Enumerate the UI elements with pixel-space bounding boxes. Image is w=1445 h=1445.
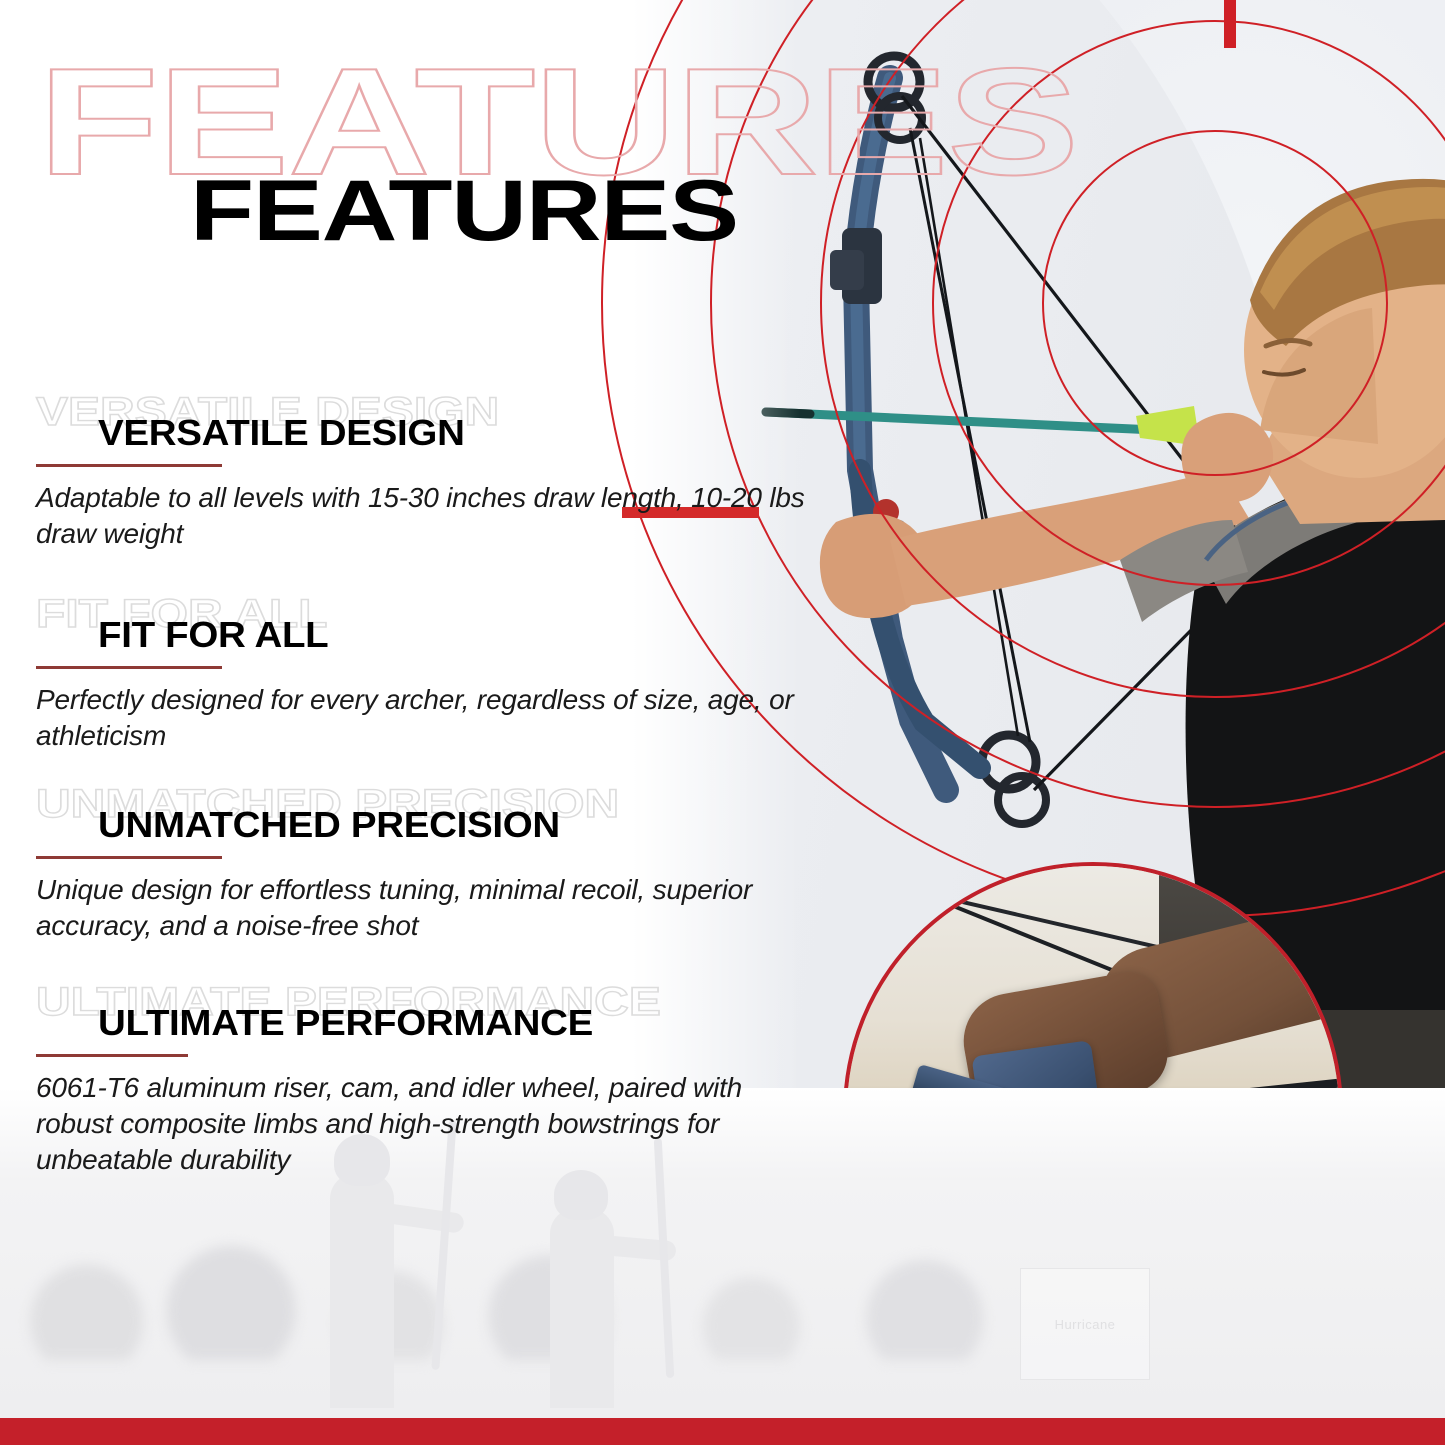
features-content: FEATURES FEATURES VERSATILE DESIGN VERSA… <box>0 0 830 1445</box>
feature-underline <box>36 1054 188 1057</box>
feature-underline <box>36 464 222 467</box>
target-tick-top <box>1224 0 1236 48</box>
feature-heading: FIT FOR ALL <box>98 617 328 653</box>
feature-description: Adaptable to all levels with 15-30 inche… <box>36 480 816 552</box>
watermark-label: Hurricane <box>1055 1317 1116 1332</box>
feature-underline <box>36 666 222 669</box>
feature-description: Perfectly designed for every archer, reg… <box>36 682 816 754</box>
feature-underline <box>36 856 222 859</box>
page-title: FEATURES <box>190 168 738 254</box>
features-poster: GENESIS ARCHERY GENESIS ARCHERY Hurrican… <box>0 0 1445 1445</box>
feature-description: Unique design for effortless tuning, min… <box>36 872 816 944</box>
background-target-bag-watermark: Hurricane <box>1020 1268 1150 1380</box>
feature-heading: UNMATCHED PRECISION <box>98 807 560 843</box>
feature-heading: VERSATILE DESIGN <box>98 415 465 451</box>
feature-description: 6061-T6 aluminum riser, cam, and idler w… <box>36 1070 816 1177</box>
feature-heading: ULTIMATE PERFORMANCE <box>98 1005 593 1041</box>
target-ring-4 <box>1042 130 1388 476</box>
